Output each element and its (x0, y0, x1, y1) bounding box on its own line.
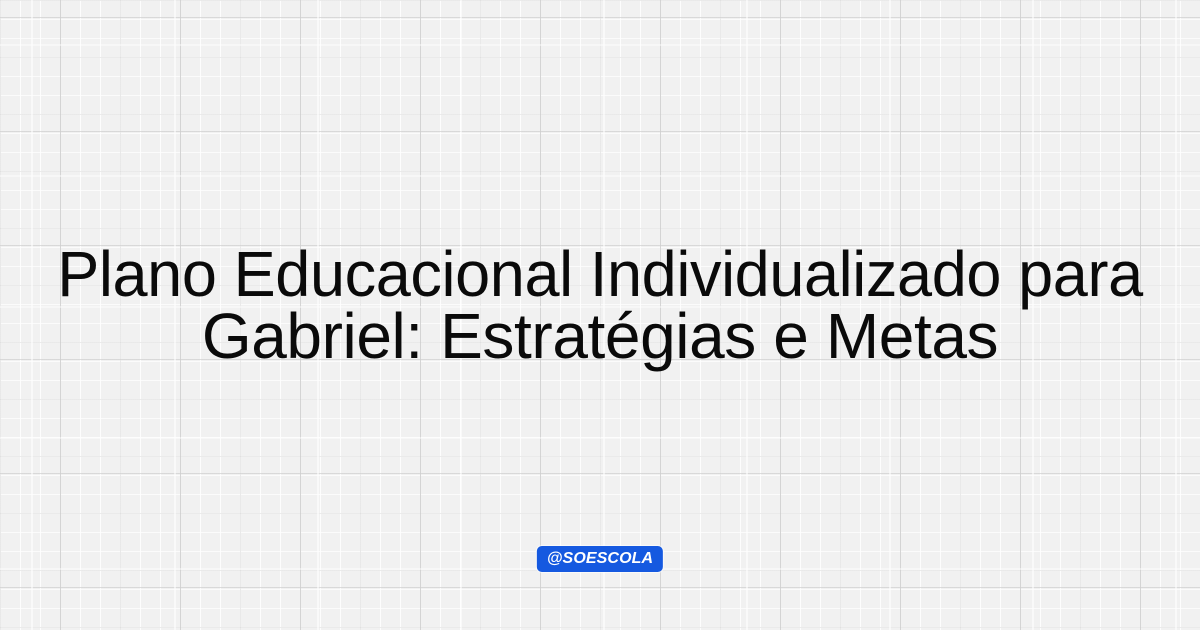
page-title: Plano Educacional Individualizado para G… (0, 243, 1200, 367)
page-title-line-2: Gabriel: Estratégias e Metas (8, 305, 1192, 367)
watermark-handle-label: @SOESCOLA (547, 551, 653, 567)
watermark-badge: @SOESCOLA (537, 546, 663, 572)
page-title-line-1: Plano Educacional Individualizado para (17, 243, 1183, 305)
page-canvas: Plano Educacional Individualizado para G… (0, 0, 1200, 630)
